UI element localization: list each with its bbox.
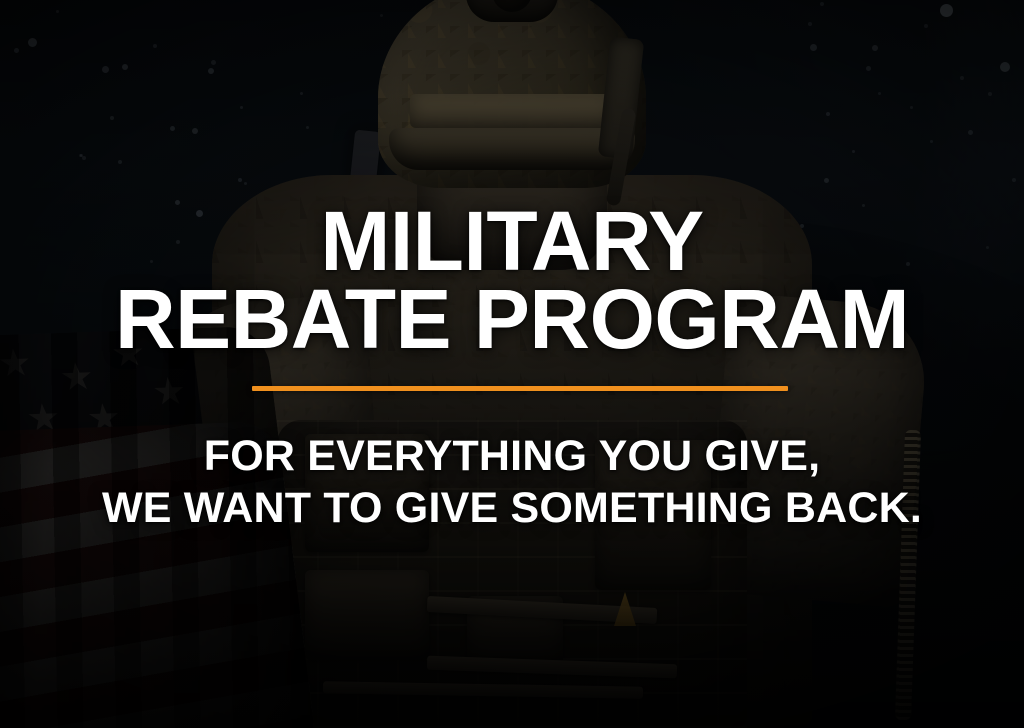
tactical-helmet-icon <box>378 0 646 188</box>
military-rebate-banner: MILITARY REBATE PROGRAM FOR EVERYTHING Y… <box>0 0 1024 728</box>
american-flag <box>0 326 316 728</box>
vest-pouch <box>595 440 711 590</box>
vest-pouch <box>305 570 429 660</box>
plate-carrier-vest <box>277 420 747 728</box>
vest-pouch <box>305 434 429 552</box>
flag-shading-overlay <box>0 326 316 728</box>
helmet-velcro-band <box>410 94 614 128</box>
